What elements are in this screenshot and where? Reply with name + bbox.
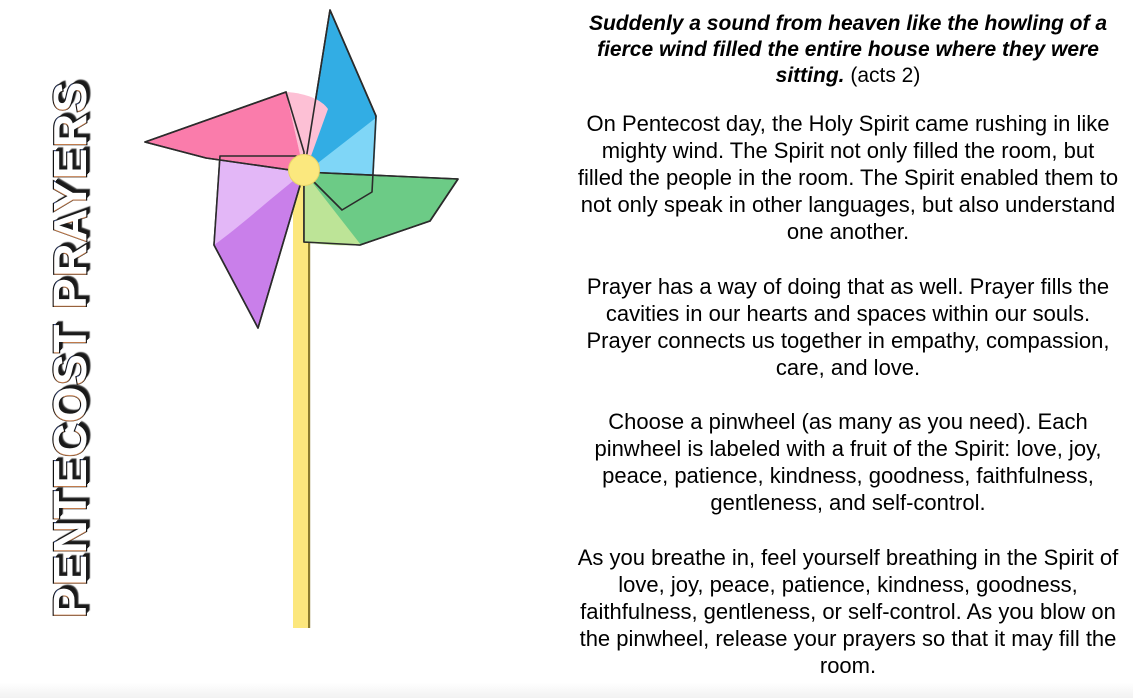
pinwheel-blade-green — [304, 172, 458, 245]
pinwheel-illustration — [128, 0, 508, 656]
body-paragraph-4: As you breathe in, feel yourself breathi… — [563, 544, 1133, 679]
scripture-reference: (acts 2) — [850, 64, 920, 87]
body-paragraph-3: Choose a pinwheel (as many as you need).… — [563, 408, 1133, 516]
scripture-text: Suddenly a sound from heaven like the ho… — [589, 12, 1107, 87]
page-title: PENTECOST PRAYERS — [47, 80, 93, 618]
pinwheel-icon — [128, 0, 508, 656]
body-paragraph-1: On Pentecost day, the Holy Spirit came r… — [563, 110, 1133, 245]
pinwheel-hub — [289, 155, 320, 186]
bottom-divider — [0, 683, 1133, 698]
text-column: Suddenly a sound from heaven like the ho… — [563, 0, 1133, 690]
body-paragraph-2: Prayer has a way of doing that as well. … — [563, 273, 1133, 381]
title-column: PENTECOST PRAYERS — [0, 0, 140, 698]
scripture-quote: Suddenly a sound from heaven like the ho… — [563, 11, 1133, 89]
slide-canvas: PENTECOST PRAYERS — [0, 0, 1133, 698]
pinwheel-blade-purple — [214, 156, 304, 328]
